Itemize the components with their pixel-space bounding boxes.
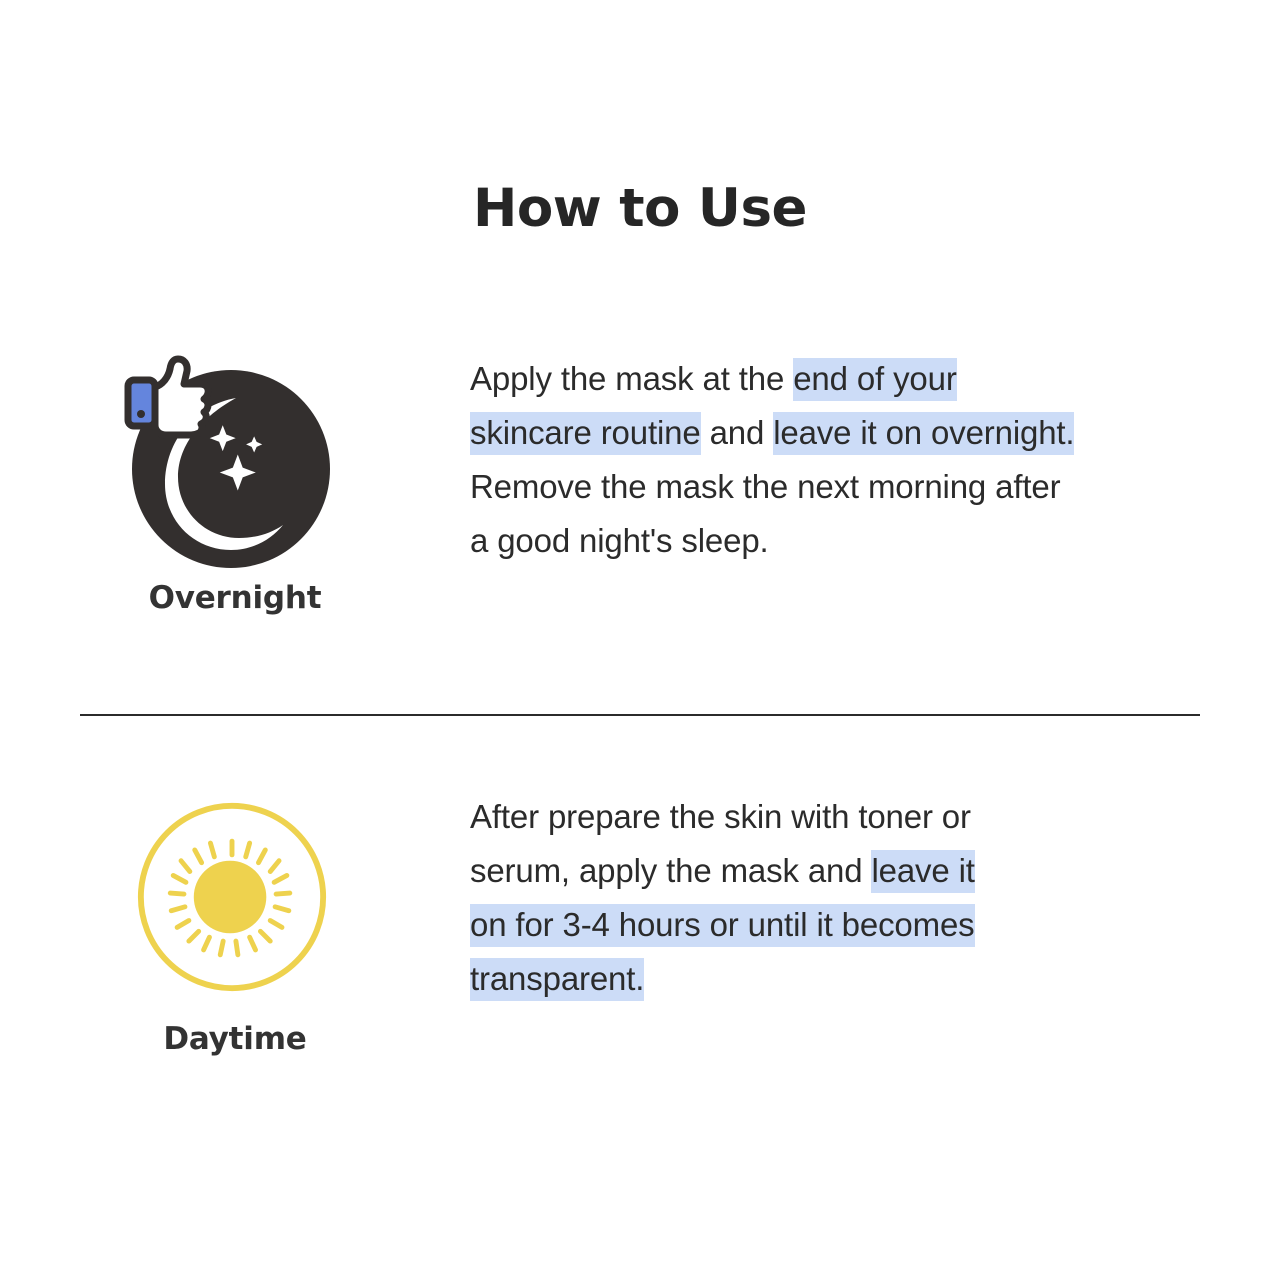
daytime-label: Daytime [163, 1021, 306, 1057]
thumb-cuff-dot [137, 410, 145, 418]
daytime-icon-column: Daytime [0, 790, 470, 1057]
thumb-hand [155, 359, 208, 435]
overnight-body-text: Apply the mask at the end of your skinca… [470, 352, 1078, 568]
section-overnight: Overnight Apply the mask at the end of y… [0, 352, 1280, 616]
thumbs-up-icon [118, 351, 218, 451]
section-divider [80, 714, 1200, 716]
daytime-text-column: After prepare the skin with toner or ser… [470, 790, 1280, 1006]
text-plain-3: Remove the mask the next morning after a… [470, 468, 1060, 559]
overnight-icon-column: Overnight [0, 352, 470, 616]
text-plain-2: and [701, 414, 774, 451]
overnight-label: Overnight [149, 580, 322, 616]
overnight-text-column: Apply the mask at the end of your skinca… [470, 352, 1280, 568]
sun-icon [134, 799, 330, 995]
text-plain-1: Apply the mask at the [470, 360, 793, 397]
daytime-body-text: After prepare the skin with toner or ser… [470, 790, 1010, 1006]
overnight-icon-wrap [120, 352, 350, 567]
sun-disc [194, 861, 267, 934]
how-to-use-page: How to Use [0, 0, 1280, 1280]
daytime-icon-wrap [120, 790, 350, 1005]
highlight-leave-overnight: leave it on overnight. [773, 412, 1074, 455]
page-title: How to Use [0, 182, 1280, 235]
thumb-cuff [128, 380, 155, 426]
section-daytime: Daytime After prepare the skin with tone… [0, 790, 1280, 1057]
